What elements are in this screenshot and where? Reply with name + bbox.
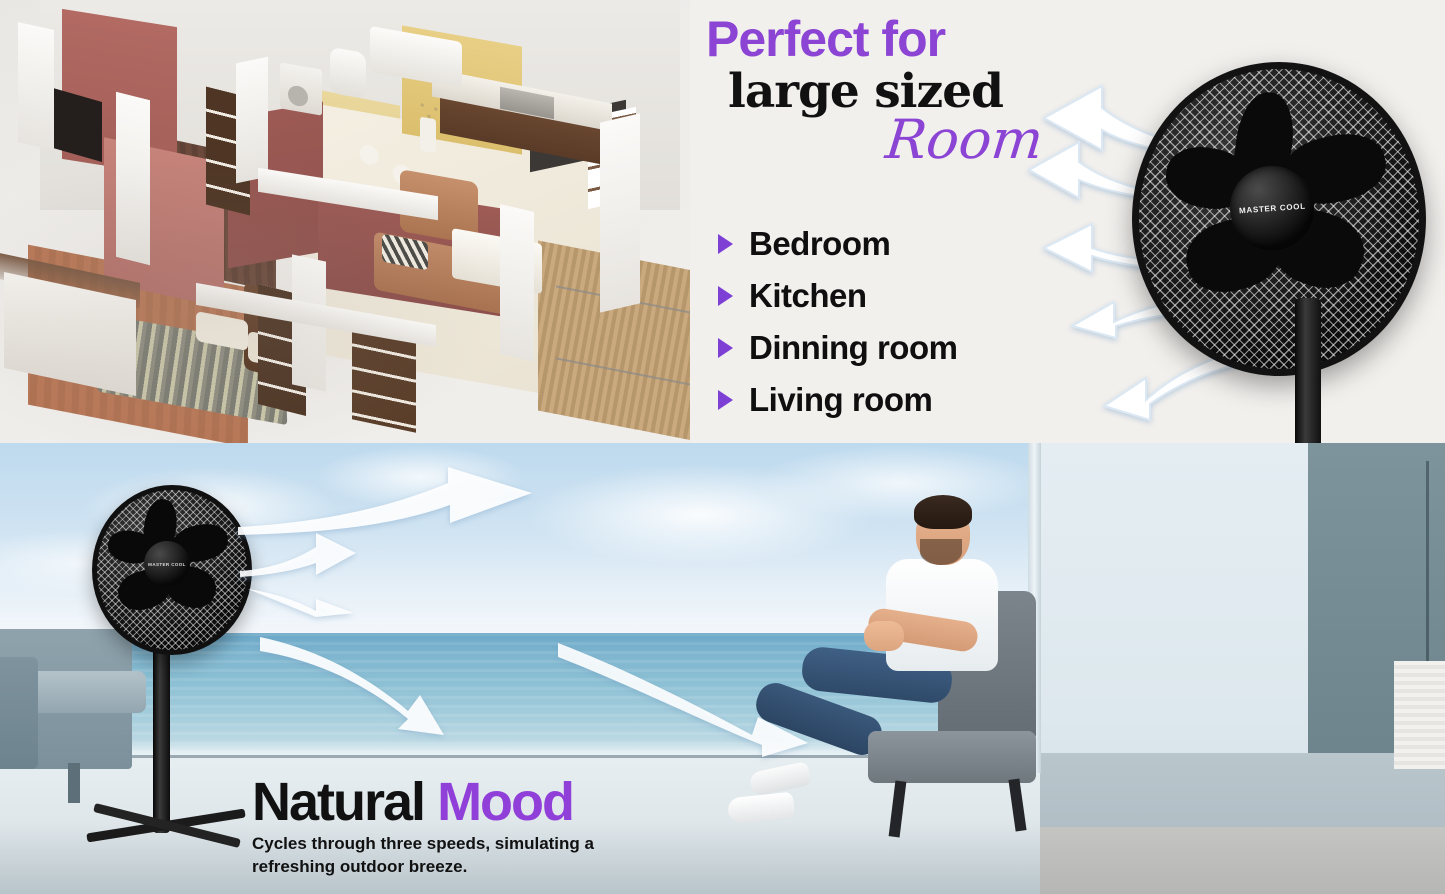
caption-subtitle: Cycles through three speeds, simulating … bbox=[252, 833, 602, 879]
top-panel: Perfect for large sized Room Bedroom Kit… bbox=[0, 0, 1445, 443]
airflow-arrow-icon bbox=[236, 465, 536, 535]
caption-block: Natural Mood Cycles through three speeds… bbox=[252, 775, 602, 879]
list-item: Living room bbox=[718, 374, 957, 426]
area-rug bbox=[1040, 827, 1445, 894]
triangle-bullet-icon bbox=[718, 390, 733, 410]
armchair-seat bbox=[868, 731, 1036, 783]
man-hands bbox=[864, 621, 904, 651]
airflow-arrow-icon bbox=[238, 531, 358, 579]
list-item-label: Dinning room bbox=[749, 329, 957, 367]
caption-title-primary: Natural bbox=[252, 772, 424, 832]
airflow-arrow-icon bbox=[258, 629, 488, 739]
headline-block: Perfect for large sized Room bbox=[706, 14, 1066, 167]
sideboard-cabinet bbox=[1394, 661, 1445, 769]
wall-seam bbox=[1426, 461, 1429, 661]
headline-line-3: Room bbox=[883, 113, 1046, 167]
seated-man-and-armchair bbox=[846, 591, 1036, 851]
armchair-leg bbox=[889, 781, 907, 838]
pedestal-fan-bottom: MASTER COOL bbox=[92, 485, 242, 645]
fan-pole bbox=[1295, 298, 1321, 443]
caption-title-accent: Mood bbox=[437, 772, 573, 832]
fan-hub: MASTER COOL bbox=[1230, 166, 1314, 250]
list-item-label: Bedroom bbox=[749, 225, 890, 263]
fan-brand-label: MASTER COOL bbox=[1238, 201, 1305, 215]
floorplan-render-image bbox=[0, 0, 690, 443]
list-item: Dinning room bbox=[718, 322, 957, 374]
man-beard bbox=[920, 539, 962, 565]
airflow-arrow-icon bbox=[246, 573, 356, 619]
fan-hub: MASTER COOL bbox=[144, 541, 190, 587]
list-item-label: Kitchen bbox=[749, 277, 867, 315]
armchair-leg bbox=[1008, 778, 1026, 831]
room-type-list: Bedroom Kitchen Dinning room Living room bbox=[718, 218, 957, 426]
product-feature-banner: Perfect for large sized Room Bedroom Kit… bbox=[0, 0, 1445, 894]
man-hair bbox=[914, 495, 972, 529]
bottom-panel: MASTER COOL bbox=[0, 443, 1445, 894]
caption-title: Natural Mood bbox=[252, 775, 602, 829]
list-item: Kitchen bbox=[718, 270, 957, 322]
list-item-label: Living room bbox=[749, 381, 932, 419]
fan-brand-label: MASTER COOL bbox=[148, 562, 186, 567]
triangle-bullet-icon bbox=[718, 234, 733, 254]
triangle-bullet-icon bbox=[718, 338, 733, 358]
headline-line-1: Perfect for bbox=[706, 14, 1066, 64]
triangle-bullet-icon bbox=[718, 286, 733, 306]
list-item: Bedroom bbox=[718, 218, 957, 270]
pedestal-fan-top: MASTER COOL bbox=[1132, 62, 1412, 362]
